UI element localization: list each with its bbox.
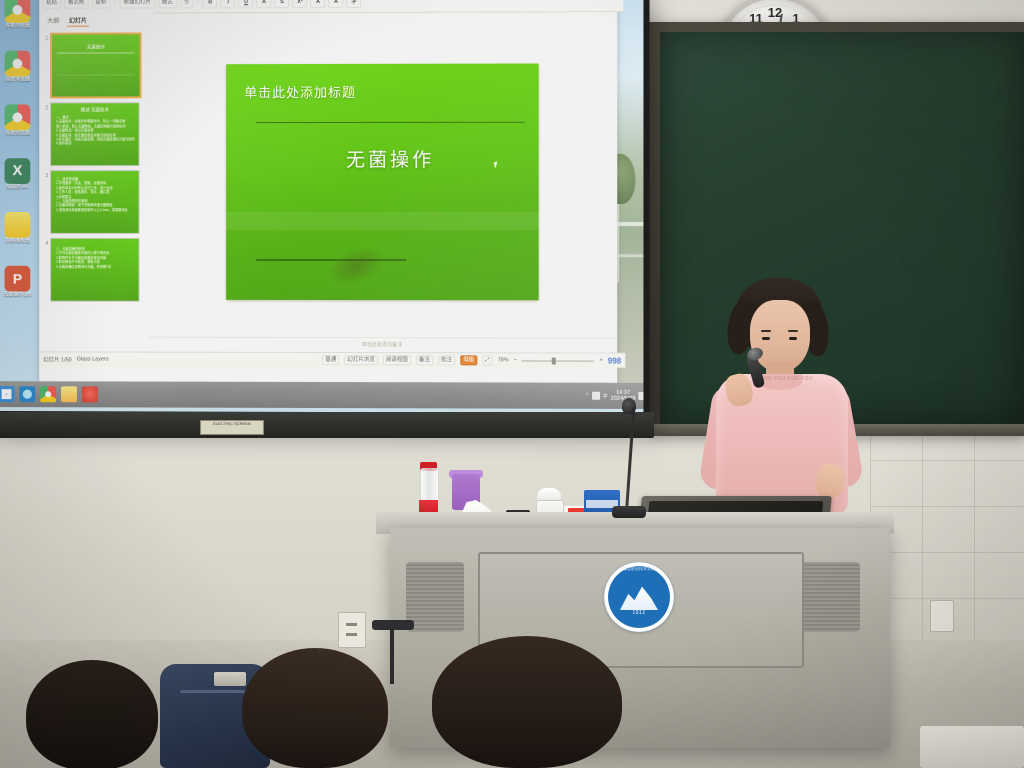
zoom-slider-track (522, 360, 594, 361)
internet-explorer-icon[interactable] (19, 386, 35, 402)
student-desk (920, 726, 1024, 768)
school-emblem: 湖北职业技术学院 1912 (604, 562, 674, 632)
thumbnail-slide-2[interactable]: 概述 无菌技术 一、概念 1.无菌技术：在医疗护理操作中，防止一切微生物 侵入机… (50, 102, 139, 166)
desktop-icon-media[interactable]: 视频播放器 (0, 212, 37, 264)
thumbnail-bullet: 5.操作原则 (56, 142, 134, 146)
desktop-icon-label: 谷歌浏览器 (0, 131, 37, 137)
podium-speaker-left (406, 562, 464, 632)
thumbnail-slide-4[interactable]: 三、无菌容器的使用 1.打开无菌容器盖内面向上置于稳妥处 2.取物时手不可触及容… (50, 238, 139, 302)
projection-screen[interactable]: 谷歌浏览器 谷歌浏览器 谷歌浏览器 X 成绩表.xls 视频播放器 (0, 0, 650, 425)
thumbnail-number: 1 (42, 33, 48, 42)
thumbnail-number: 4 (42, 238, 48, 247)
toolbar-separator: | (196, 0, 199, 5)
thumbnail-number: 3 (42, 170, 48, 179)
thumbnail-bullet: 4.无菌容器应定期消毒灭菌，有效期7天 (56, 264, 134, 268)
zoom-slider-handle[interactable] (552, 357, 556, 364)
system-tray[interactable]: ^ 中 14:37 2024/5/28 (586, 389, 643, 402)
toolbar-paste-button[interactable]: 粘贴 (42, 0, 61, 9)
chrome-icon[interactable] (40, 386, 56, 402)
powerpoint-icon: P (5, 266, 31, 292)
thumbnail-body: 二、操作前准备 1.环境要求：清洁、宽敞、定期消毒 2.操作前半小时停止清扫工作… (56, 177, 134, 212)
toolbar-strikethrough-button[interactable]: S (275, 0, 290, 8)
thumbnail-row[interactable]: 1 无菌操作 (39, 30, 148, 100)
toolbar-bold-button[interactable]: B (203, 0, 218, 8)
show-desktop-icon[interactable] (638, 392, 643, 400)
screen-bottom-bar (0, 412, 654, 438)
slide-subtitle[interactable]: 无菌操作 (256, 145, 524, 172)
panel-tab-bar[interactable]: 大纲 幻灯片 (39, 12, 154, 28)
slide-title-placeholder[interactable]: 单击此处添加标题 (244, 82, 356, 101)
excel-icon: X (5, 158, 31, 184)
emblem-mountain-icon (620, 584, 658, 610)
ime-indicator[interactable]: 中 (603, 392, 608, 399)
desktop-icon-excel[interactable]: X 成绩表.xls (0, 158, 37, 210)
desktop-icon-label: 谷歌浏览器 (0, 24, 37, 30)
slide-edit-area[interactable]: 单击此处添加标题 无菌操作 (148, 26, 617, 337)
view-button-sorter[interactable]: 幻灯片浏览 (344, 355, 378, 365)
screen-brand-tag: ELECTRIC SCREEN (200, 420, 264, 435)
zoom-slider[interactable] (522, 357, 594, 364)
start-button-icon[interactable] (0, 386, 14, 402)
zoom-in-button[interactable]: + (600, 358, 603, 364)
wps-icon[interactable] (82, 386, 98, 402)
view-button-master[interactable]: 母版 (460, 355, 477, 365)
backpack-zipper (180, 690, 252, 693)
zoom-level-label: 78% (498, 357, 509, 363)
view-button-notes[interactable]: 备注 (416, 355, 433, 365)
thumbnail-body: 一、概念 1.无菌技术：在医疗护理操作中，防止一切微生物 侵入机体、防止无菌物品… (56, 115, 134, 146)
view-button-reading[interactable]: 阅读视图 (383, 355, 411, 365)
thumbnail-title: 无菌操作 (58, 44, 133, 50)
media-icon (5, 212, 31, 238)
wps-status-bar[interactable]: 幻灯片 1/50 Glass Layers 普通 幻灯片浏览 阅读视图 备注 批… (39, 351, 625, 367)
status-code: 998 (608, 356, 621, 365)
view-button-normal[interactable]: 普通 (322, 355, 339, 365)
thumbnail-bullet: 2.浸泡消毒液面需浸没轴节以上2-3cm，钳端需闭合 (56, 208, 134, 212)
toolbar-underline-button[interactable]: U (239, 0, 254, 8)
toolbar-new-slide-button[interactable]: 新建幻灯片 (120, 0, 155, 9)
thumbnail-row[interactable]: 2 概述 无菌技术 一、概念 1.无菌技术：在医疗护理操作中，防止一切微生物 侵… (39, 100, 148, 168)
chrome-icon (5, 51, 31, 77)
tray-expand-icon[interactable]: ^ (586, 393, 588, 399)
toolbar-layout-button[interactable]: 版式 (158, 0, 177, 8)
slide-thumbnail-panel[interactable]: 1 无菌操作 2 概述 无菌技术 一、概念 (39, 27, 149, 354)
desktop-icon-chrome[interactable]: 谷歌浏览器 (0, 0, 37, 49)
emblem-year: 1912 (604, 610, 674, 616)
toolbar-superscript-button[interactable]: X² (292, 0, 307, 8)
fit-window-button[interactable]: ⤢ (482, 355, 492, 365)
student-head (26, 660, 158, 768)
view-button-comment[interactable]: 批注 (438, 355, 455, 365)
thumbnail-row[interactable]: 3 二、操作前准备 1.环境要求：清洁、宽敞、定期消毒 2.操作前半小时停止清扫… (39, 168, 148, 236)
desktop-icon-column[interactable]: 谷歌浏览器 谷歌浏览器 谷歌浏览器 X 成绩表.xls 视频播放器 (0, 0, 37, 318)
classroom-scene: 12 1 2 3 4 5 6 7 8 9 10 11 (0, 0, 1024, 768)
slide-content-box[interactable]: 无菌操作 (256, 122, 524, 280)
thumbnail-row[interactable]: 4 三、无菌容器的使用 1.打开无菌容器盖内面向上置于稳妥处 2.取物时手不可触… (39, 236, 148, 304)
toolbar-section-button[interactable]: 节 (180, 0, 193, 8)
toolbar-format-painter[interactable]: 格式刷 (64, 0, 88, 9)
toolbar-italic-button[interactable]: I (221, 0, 236, 8)
thumbnail-body: 三、无菌容器的使用 1.打开无菌容器盖内面向上置于稳妥处 2.取物时手不可触及容… (56, 247, 134, 269)
wps-presentation-window[interactable]: 粘贴 格式刷 复制 | 新建幻灯片 版式 节 | B I U A S X² A … (39, 0, 617, 383)
screen-content[interactable]: 谷歌浏览器 谷歌浏览器 谷歌浏览器 X 成绩表.xls 视频播放器 (0, 0, 643, 413)
desktop-icon-chrome[interactable]: 谷歌浏览器 (0, 104, 37, 156)
toolbar-char-spacing-button[interactable]: A (310, 0, 325, 8)
zoom-out-button[interactable]: − (514, 357, 517, 363)
thumbnail-slide-1[interactable]: 无菌操作 (50, 32, 141, 98)
stool-leg (390, 628, 394, 684)
desktop-icon-label: 视频播放器 (0, 239, 37, 244)
thumbnail-title: 概述 无菌技术 (57, 107, 132, 113)
file-explorer-icon[interactable] (61, 386, 77, 402)
thumbnail-slide-3[interactable]: 二、操作前准备 1.环境要求：清洁、宽敞、定期消毒 2.操作前半小时停止清扫工作… (50, 170, 139, 234)
slide-band (226, 212, 539, 230)
windows-taskbar[interactable]: ^ 中 14:37 2024/5/28 (0, 381, 643, 409)
backpack-tag (214, 672, 246, 686)
toolbar-font-color-button[interactable]: A (328, 0, 343, 8)
taskbar-spacer (103, 394, 581, 395)
slide-counter: 幻灯片 1/50 (43, 355, 72, 363)
tab-outline[interactable]: 大纲 (45, 15, 61, 26)
current-slide[interactable]: 单击此处添加标题 无菌操作 (226, 64, 539, 301)
wall-outlet-secondary[interactable] (930, 600, 954, 632)
wall-outlet[interactable] (338, 612, 366, 648)
chrome-icon (5, 104, 31, 130)
emblem-arc-text: 湖北职业技术学院 (604, 566, 674, 572)
student-head (432, 636, 622, 768)
toolbar-shadow-button[interactable]: A (257, 0, 272, 8)
podium-speaker-right (802, 562, 860, 632)
network-icon[interactable] (592, 392, 600, 400)
theme-name[interactable]: Glass Layers (77, 356, 109, 362)
toolbar-copy-button[interactable]: 复制 (91, 0, 110, 9)
tab-slides[interactable]: 幻灯片 (67, 14, 89, 26)
toolbar-separator: | (113, 0, 116, 6)
desktop-icon-label: 成绩表.xls (0, 185, 37, 190)
thumbnail-number: 2 (42, 102, 48, 111)
desktop-icon-label: 无菌操作.ppt (0, 293, 37, 299)
desktop-icon-label: 谷歌浏览器 (0, 78, 37, 84)
toolbar-text-effect-button[interactable]: 字 (346, 0, 361, 8)
student-head (242, 648, 388, 768)
desktop-icon-chrome[interactable]: 谷歌浏览器 (0, 51, 37, 103)
desk-microphone-base (612, 506, 646, 518)
desktop-icon-powerpoint[interactable]: P 无菌操作.ppt (0, 266, 37, 318)
chrome-icon (5, 0, 31, 23)
